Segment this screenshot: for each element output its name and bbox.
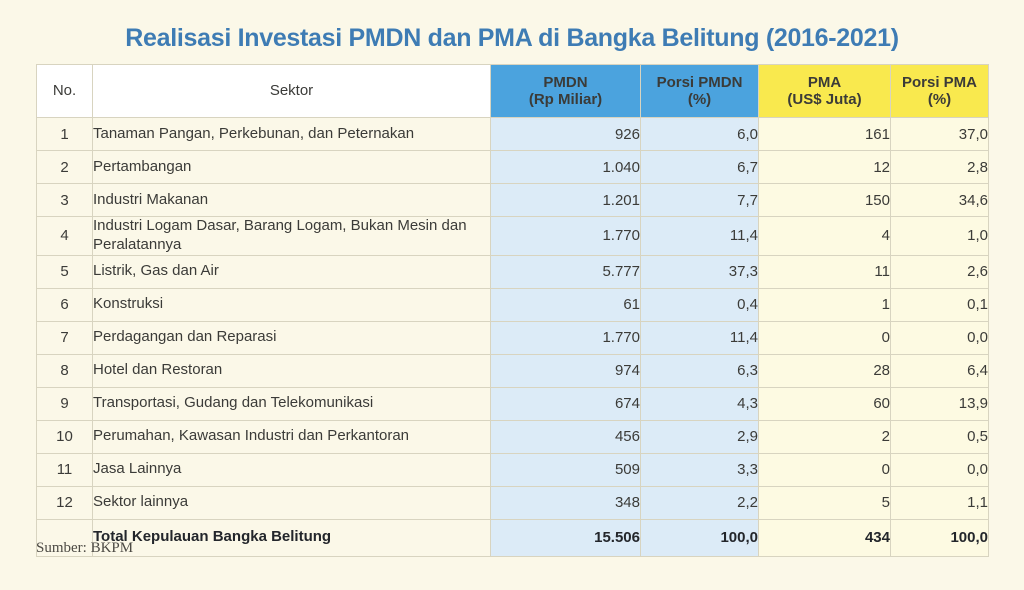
cell-sektor: Konstruksi — [93, 288, 491, 321]
table-row: 1 Tanaman Pangan, Perkebunan, dan Petern… — [37, 118, 989, 151]
table-container: No. Sektor PMDN (Rp Miliar) Porsi PMDN (… — [36, 64, 988, 557]
cell-porsi-pma: 13,9 — [891, 387, 989, 420]
cell-sektor: Transportasi, Gudang dan Telekomunikasi — [93, 387, 491, 420]
cell-porsi-pma: 1,0 — [891, 217, 989, 256]
cell-pmdn: 926 — [491, 118, 641, 151]
column-header-porsi-pma-line2: (%) — [891, 91, 988, 108]
column-header-pmdn-line2: (Rp Miliar) — [491, 91, 640, 108]
cell-sektor: Perdagangan dan Reparasi — [93, 321, 491, 354]
table-row: 3 Industri Makanan 1.201 7,7 150 34,6 — [37, 184, 989, 217]
page-title: Realisasi Investasi PMDN dan PMA di Bang… — [0, 24, 1024, 53]
cell-porsi-pmdn: 37,3 — [641, 255, 759, 288]
cell-sektor: Pertambangan — [93, 151, 491, 184]
cell-pmdn: 1.770 — [491, 321, 641, 354]
cell-no: 6 — [37, 288, 93, 321]
cell-pma: 28 — [759, 354, 891, 387]
table-row: 7 Perdagangan dan Reparasi 1.770 11,4 0 … — [37, 321, 989, 354]
cell-sektor: Jasa Lainnya — [93, 453, 491, 486]
cell-pmdn: 974 — [491, 354, 641, 387]
cell-porsi-pma: 2,6 — [891, 255, 989, 288]
cell-no: 11 — [37, 453, 93, 486]
cell-pma: 0 — [759, 453, 891, 486]
cell-pmdn: 1.201 — [491, 184, 641, 217]
column-header-pma: PMA (US$ Juta) — [759, 65, 891, 118]
cell-porsi-pmdn: 6,3 — [641, 354, 759, 387]
column-header-porsi-pma: Porsi PMA (%) — [891, 65, 989, 118]
cell-porsi-pma: 6,4 — [891, 354, 989, 387]
cell-sektor: Tanaman Pangan, Perkebunan, dan Peternak… — [93, 118, 491, 151]
cell-pmdn: 1.040 — [491, 151, 641, 184]
cell-pma: 434 — [759, 519, 891, 556]
table-header: No. Sektor PMDN (Rp Miliar) Porsi PMDN (… — [37, 65, 989, 118]
cell-sektor: Sektor lainnya — [93, 486, 491, 519]
cell-no: 8 — [37, 354, 93, 387]
cell-porsi-pma: 1,1 — [891, 486, 989, 519]
cell-pmdn: 5.777 — [491, 255, 641, 288]
cell-pma: 150 — [759, 184, 891, 217]
cell-sektor: Hotel dan Restoran — [93, 354, 491, 387]
column-header-sektor: Sektor — [93, 65, 491, 118]
cell-porsi-pma: 37,0 — [891, 118, 989, 151]
table-row: 10 Perumahan, Kawasan Industri dan Perka… — [37, 420, 989, 453]
cell-no: 2 — [37, 151, 93, 184]
cell-pma: 60 — [759, 387, 891, 420]
cell-no: 9 — [37, 387, 93, 420]
cell-no: 4 — [37, 217, 93, 256]
cell-porsi-pma: 0,1 — [891, 288, 989, 321]
cell-porsi-pmdn: 4,3 — [641, 387, 759, 420]
cell-porsi-pmdn: 100,0 — [641, 519, 759, 556]
cell-sektor: Total Kepulauan Bangka Belitung — [93, 519, 491, 556]
cell-pma: 5 — [759, 486, 891, 519]
cell-no: 12 — [37, 486, 93, 519]
cell-no: 7 — [37, 321, 93, 354]
cell-pma: 4 — [759, 217, 891, 256]
cell-pmdn: 674 — [491, 387, 641, 420]
cell-porsi-pma: 2,8 — [891, 151, 989, 184]
source-note: Sumber: BKPM — [36, 540, 133, 557]
cell-pmdn: 456 — [491, 420, 641, 453]
column-header-pmdn-line1: PMDN — [491, 74, 640, 91]
cell-porsi-pmdn: 3,3 — [641, 453, 759, 486]
column-header-pma-line2: (US$ Juta) — [759, 91, 890, 108]
cell-sektor: Industri Makanan — [93, 184, 491, 217]
column-header-porsi-pmdn: Porsi PMDN (%) — [641, 65, 759, 118]
cell-porsi-pma: 34,6 — [891, 184, 989, 217]
cell-porsi-pmdn: 6,7 — [641, 151, 759, 184]
cell-sektor: Listrik, Gas dan Air — [93, 255, 491, 288]
investment-table: No. Sektor PMDN (Rp Miliar) Porsi PMDN (… — [36, 64, 989, 557]
cell-porsi-pma: 0,5 — [891, 420, 989, 453]
column-header-porsi-pmdn-line2: (%) — [641, 91, 758, 108]
cell-pma: 11 — [759, 255, 891, 288]
cell-porsi-pmdn: 6,0 — [641, 118, 759, 151]
table-row: 11 Jasa Lainnya 509 3,3 0 0,0 — [37, 453, 989, 486]
cell-pma: 0 — [759, 321, 891, 354]
table-row: 6 Konstruksi 61 0,4 1 0,1 — [37, 288, 989, 321]
table-row: 12 Sektor lainnya 348 2,2 5 1,1 — [37, 486, 989, 519]
cell-pma: 2 — [759, 420, 891, 453]
cell-pma: 161 — [759, 118, 891, 151]
cell-porsi-pmdn: 2,2 — [641, 486, 759, 519]
column-header-pmdn: PMDN (Rp Miliar) — [491, 65, 641, 118]
cell-no: 1 — [37, 118, 93, 151]
cell-no: 5 — [37, 255, 93, 288]
table-body: 1 Tanaman Pangan, Perkebunan, dan Petern… — [37, 118, 989, 557]
cell-pmdn: 15.506 — [491, 519, 641, 556]
cell-pma: 1 — [759, 288, 891, 321]
header-row: No. Sektor PMDN (Rp Miliar) Porsi PMDN (… — [37, 65, 989, 118]
table-row: 2 Pertambangan 1.040 6,7 12 2,8 — [37, 151, 989, 184]
cell-pmdn: 509 — [491, 453, 641, 486]
cell-no: 10 — [37, 420, 93, 453]
cell-pmdn: 348 — [491, 486, 641, 519]
cell-pmdn: 61 — [491, 288, 641, 321]
column-header-no: No. — [37, 65, 93, 118]
cell-pma: 12 — [759, 151, 891, 184]
cell-porsi-pma: 100,0 — [891, 519, 989, 556]
column-header-porsi-pma-line1: Porsi PMA — [891, 74, 988, 91]
table-row: 5 Listrik, Gas dan Air 5.777 37,3 11 2,6 — [37, 255, 989, 288]
column-header-porsi-pmdn-line1: Porsi PMDN — [641, 74, 758, 91]
cell-no: 3 — [37, 184, 93, 217]
column-header-pma-line1: PMA — [759, 74, 890, 91]
cell-sektor: Industri Logam Dasar, Barang Logam, Buka… — [93, 217, 491, 256]
cell-porsi-pmdn: 2,9 — [641, 420, 759, 453]
table-row: 8 Hotel dan Restoran 974 6,3 28 6,4 — [37, 354, 989, 387]
cell-porsi-pmdn: 11,4 — [641, 217, 759, 256]
cell-sektor: Perumahan, Kawasan Industri dan Perkanto… — [93, 420, 491, 453]
cell-porsi-pma: 0,0 — [891, 321, 989, 354]
table-row: 9 Transportasi, Gudang dan Telekomunikas… — [37, 387, 989, 420]
table-row: 4 Industri Logam Dasar, Barang Logam, Bu… — [37, 217, 989, 256]
cell-porsi-pmdn: 11,4 — [641, 321, 759, 354]
cell-porsi-pmdn: 7,7 — [641, 184, 759, 217]
cell-pmdn: 1.770 — [491, 217, 641, 256]
cell-porsi-pmdn: 0,4 — [641, 288, 759, 321]
cell-porsi-pma: 0,0 — [891, 453, 989, 486]
table-page: Realisasi Investasi PMDN dan PMA di Bang… — [0, 0, 1024, 590]
table-total-row: Total Kepulauan Bangka Belitung 15.506 1… — [37, 519, 989, 556]
